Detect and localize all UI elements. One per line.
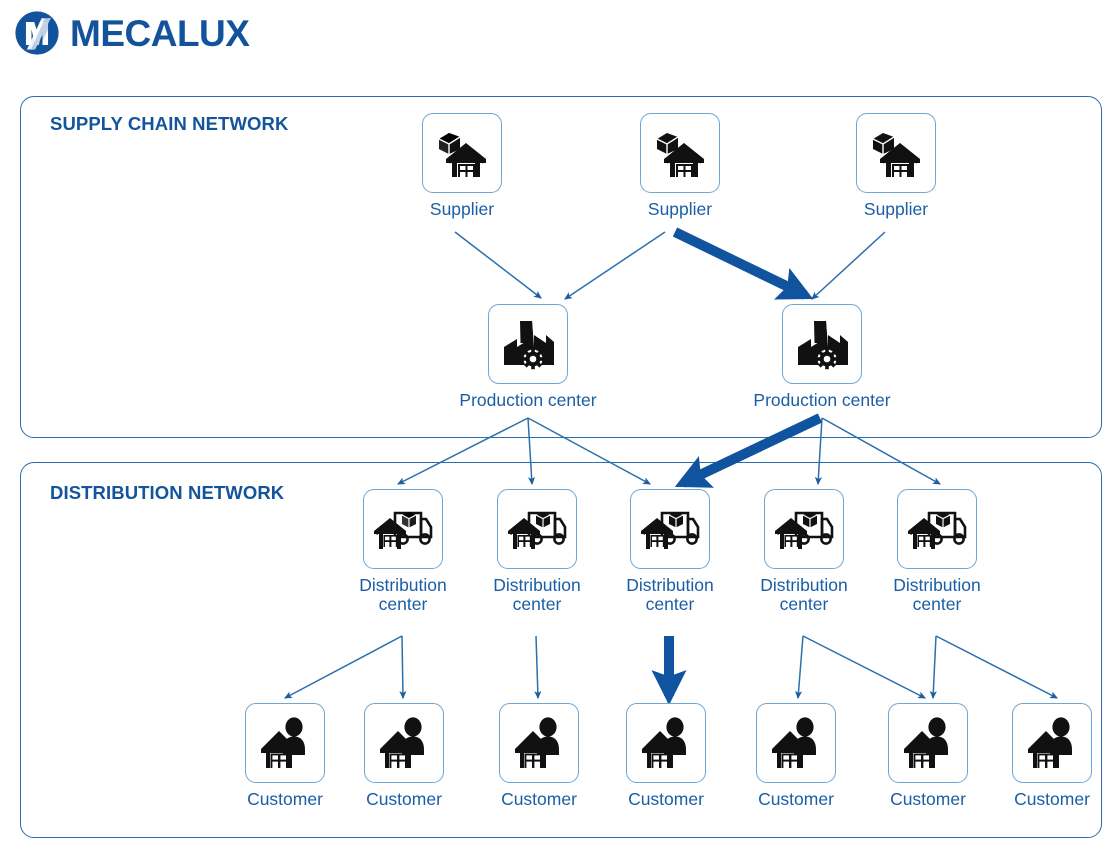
node-customer-4[interactable]: Customer [611, 703, 721, 809]
node-supplier-1[interactable]: Supplier [416, 113, 508, 219]
distribution-center-icon-box[interactable] [363, 489, 443, 569]
customer-icon-box[interactable] [245, 703, 325, 783]
customer-4-label: Customer [611, 790, 721, 809]
warehouse-box-icon [867, 125, 925, 181]
dc-label-line1: Distribution [893, 575, 981, 595]
supplier-3-label: Supplier [850, 200, 942, 219]
node-distribution-center-3[interactable]: Distributioncenter [624, 489, 716, 614]
panel-title-distribution: DISTRIBUTION NETWORK [50, 482, 284, 504]
distribution-center-icon-box[interactable] [630, 489, 710, 569]
warehouse-truck-icon [373, 503, 433, 555]
production-center-2-label: Production center [747, 391, 897, 410]
node-distribution-center-1[interactable]: Distributioncenter [357, 489, 449, 614]
node-customer-3[interactable]: Customer [484, 703, 594, 809]
house-person-icon [768, 716, 824, 770]
dc-label-line1: Distribution [493, 575, 581, 595]
house-person-icon [376, 716, 432, 770]
warehouse-truck-icon [774, 503, 834, 555]
node-customer-2[interactable]: Customer [349, 703, 459, 809]
dc-label-line2: center [646, 594, 695, 614]
customer-2-label: Customer [349, 790, 459, 809]
brand-name: MECALUX [70, 15, 249, 52]
customer-icon-box[interactable] [756, 703, 836, 783]
node-customer-5[interactable]: Customer [741, 703, 851, 809]
dc-label-line2: center [379, 594, 428, 614]
supplier-2-label: Supplier [634, 200, 726, 219]
customer-icon-box[interactable] [499, 703, 579, 783]
panel-title-supply-chain: SUPPLY CHAIN NETWORK [50, 113, 288, 135]
brand-logo: MECALUX [14, 8, 249, 58]
house-person-icon [257, 716, 313, 770]
warehouse-truck-icon [507, 503, 567, 555]
house-person-icon [511, 716, 567, 770]
node-supplier-2[interactable]: Supplier [634, 113, 726, 219]
node-production-center-2[interactable]: Production center [747, 304, 897, 410]
house-person-icon [638, 716, 694, 770]
dc-label-line1: Distribution [626, 575, 714, 595]
supplier-1-label: Supplier [416, 200, 508, 219]
node-customer-6[interactable]: Customer [873, 703, 983, 809]
node-customer-7[interactable]: Customer [997, 703, 1107, 809]
warehouse-box-icon [433, 125, 491, 181]
customer-icon-box[interactable] [364, 703, 444, 783]
node-distribution-center-5[interactable]: Distributioncenter [891, 489, 983, 614]
customer-icon-box[interactable] [888, 703, 968, 783]
supplier-icon-box[interactable] [640, 113, 720, 193]
node-customer-1[interactable]: Customer [230, 703, 340, 809]
mecalux-circle-m-logo-icon [14, 10, 60, 56]
factory-gear-icon [500, 317, 556, 371]
warehouse-box-icon [651, 125, 709, 181]
supplier-icon-box[interactable] [856, 113, 936, 193]
production-center-icon-box[interactable] [488, 304, 568, 384]
distribution-center-2-label: Distributioncenter [491, 576, 583, 614]
house-person-icon [1024, 716, 1080, 770]
customer-6-label: Customer [873, 790, 983, 809]
distribution-center-3-label: Distributioncenter [624, 576, 716, 614]
distribution-center-icon-box[interactable] [497, 489, 577, 569]
distribution-center-5-label: Distributioncenter [891, 576, 983, 614]
customer-icon-box[interactable] [1012, 703, 1092, 783]
node-distribution-center-2[interactable]: Distributioncenter [491, 489, 583, 614]
distribution-center-icon-box[interactable] [897, 489, 977, 569]
customer-icon-box[interactable] [626, 703, 706, 783]
customer-3-label: Customer [484, 790, 594, 809]
dc-label-line1: Distribution [760, 575, 848, 595]
production-center-1-label: Production center [453, 391, 603, 410]
dc-label-line2: center [913, 594, 962, 614]
warehouse-truck-icon [640, 503, 700, 555]
node-production-center-1[interactable]: Production center [453, 304, 603, 410]
node-supplier-3[interactable]: Supplier [850, 113, 942, 219]
warehouse-truck-icon [907, 503, 967, 555]
distribution-center-4-label: Distributioncenter [758, 576, 850, 614]
customer-1-label: Customer [230, 790, 340, 809]
distribution-center-icon-box[interactable] [764, 489, 844, 569]
node-distribution-center-4[interactable]: Distributioncenter [758, 489, 850, 614]
dc-label-line2: center [780, 594, 829, 614]
distribution-center-1-label: Distributioncenter [357, 576, 449, 614]
house-person-icon [900, 716, 956, 770]
production-center-icon-box[interactable] [782, 304, 862, 384]
supplier-icon-box[interactable] [422, 113, 502, 193]
customer-7-label: Customer [997, 790, 1107, 809]
dc-label-line1: Distribution [359, 575, 447, 595]
dc-label-line2: center [513, 594, 562, 614]
customer-5-label: Customer [741, 790, 851, 809]
factory-gear-icon [794, 317, 850, 371]
